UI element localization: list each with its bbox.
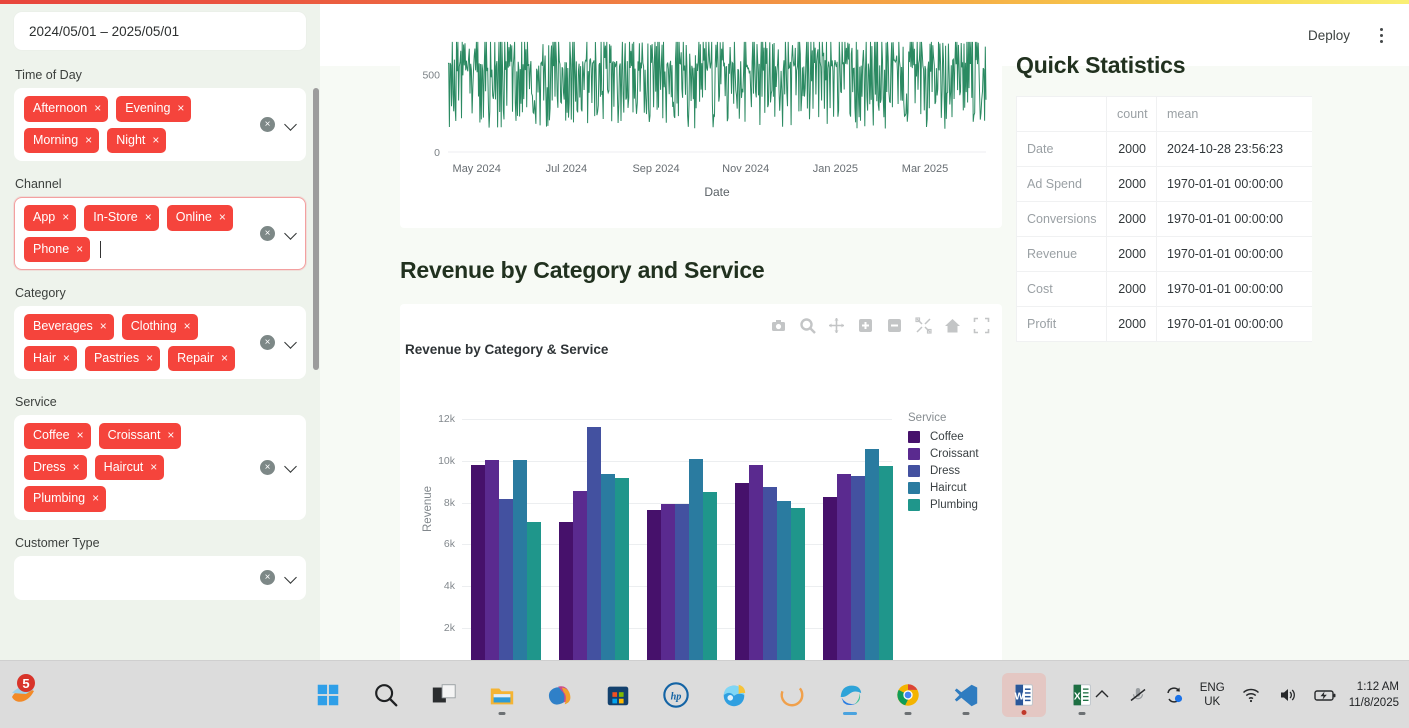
taskbar-running-indicator <box>498 712 505 715</box>
stats-cell-count: 2000 <box>1107 167 1157 202</box>
clock[interactable]: 1:12 AM 11/8/2025 <box>1349 679 1399 711</box>
legend-swatch <box>908 431 920 443</box>
chip-remove-icon[interactable]: × <box>94 102 101 114</box>
chip-label: Hair <box>33 352 56 365</box>
filter-sidebar: 2024/05/01 – 2025/05/01 Time of DayAfter… <box>0 4 320 660</box>
start-icon[interactable] <box>306 673 350 717</box>
timeseries-xtick: Jan 2025 <box>813 163 858 175</box>
stats-table-row: Date20002024-10-28 23:56:23202 <box>1017 132 1313 167</box>
stats-table-header-row: countmeanmi <box>1017 97 1313 132</box>
legend-item-coffee[interactable]: Coffee <box>908 431 1008 443</box>
bar-group-pastries <box>726 402 814 660</box>
timeseries-xtick: Nov 2024 <box>722 163 769 175</box>
legend-label: Dress <box>930 465 960 477</box>
stats-table-row: Conversions20001970-01-01 00:00:00197 <box>1017 202 1313 237</box>
chip-phone[interactable]: Phone× <box>24 237 90 263</box>
chip-label: Pastries <box>94 352 139 365</box>
chip-label: Repair <box>177 352 214 365</box>
chip-list-channel: App×In-Store×Online×Phone× <box>24 205 256 262</box>
bar-repair-coffee[interactable] <box>823 497 837 660</box>
filter-label-service: Service <box>15 395 306 409</box>
bar-beverages-coffee[interactable] <box>471 465 485 660</box>
bar-beverages-haircut[interactable] <box>513 460 527 660</box>
chip-remove-icon[interactable]: × <box>146 352 153 364</box>
bar-clothing-dress[interactable] <box>587 427 601 660</box>
thunderbird-icon[interactable]: 5 <box>6 669 52 715</box>
wifi-icon[interactable] <box>1241 685 1261 705</box>
clear-all-icon[interactable]: × <box>260 460 275 475</box>
bar-group-hair <box>638 402 726 660</box>
legend-item-plumbing[interactable]: Plumbing <box>908 499 1008 511</box>
bar-pastries-haircut[interactable] <box>777 501 791 660</box>
bar-clothing-croissant[interactable] <box>573 491 587 660</box>
zoom-in-icon[interactable] <box>857 317 874 334</box>
chip-night[interactable]: Night× <box>107 128 166 154</box>
taskbar-running-indicator <box>843 712 857 715</box>
timeseries-xaxis-title: Date <box>704 185 730 199</box>
microsoft-store-icon[interactable] <box>596 673 640 717</box>
date-range-value: 2024/05/01 – 2025/05/01 <box>29 24 179 39</box>
chip-label: Haircut <box>104 461 144 474</box>
bar-pastries-coffee[interactable] <box>735 483 749 660</box>
timeseries-ytick: 500 <box>422 70 440 82</box>
bar-beverages-dress[interactable] <box>499 499 513 660</box>
timeseries-xtick: Jul 2024 <box>546 163 588 175</box>
quick-statistics-panel: Quick Statistics countmeanmi Date2000202… <box>1016 52 1409 342</box>
stats-col-header-1: count <box>1107 97 1157 132</box>
chip-plumbing[interactable]: Plumbing× <box>24 486 106 512</box>
chevron-up-icon[interactable] <box>1092 685 1112 705</box>
chip-remove-icon[interactable]: × <box>221 352 228 364</box>
bar-beverages-plumbing[interactable] <box>527 522 541 660</box>
bar-repair-plumbing[interactable] <box>879 466 893 660</box>
section-title: Revenue by Category and Service <box>400 257 765 284</box>
timeseries-line <box>448 42 986 129</box>
chip-remove-icon[interactable]: × <box>152 134 159 146</box>
deploy-button[interactable]: Deploy <box>1302 24 1356 47</box>
system-tray: ENG UK <box>1092 661 1399 728</box>
chip-dress[interactable]: Dress× <box>24 455 87 481</box>
top-accent-bar <box>0 0 1409 4</box>
bar-pastries-dress[interactable] <box>763 487 777 660</box>
plotly-modebar <box>770 317 990 334</box>
bar-chart-title: Revenue by Category & Service <box>405 342 608 357</box>
word-icon[interactable]: W <box>1002 673 1046 717</box>
filter-label-category: Category <box>15 286 306 300</box>
bar-clothing-coffee[interactable] <box>559 522 573 660</box>
reset-axes-icon[interactable] <box>944 317 961 334</box>
chip-label: In-Store <box>93 211 137 224</box>
bar-beverages-croissant[interactable] <box>485 460 499 660</box>
filter-label-channel: Channel <box>15 177 306 191</box>
chip-remove-icon[interactable]: × <box>100 320 107 332</box>
chip-label: Afternoon <box>33 102 87 115</box>
stats-table-clip: countmeanmi Date20002024-10-28 23:56:232… <box>1016 96 1312 342</box>
bar-group-repair <box>814 402 902 660</box>
legend-swatch <box>908 448 920 460</box>
legend-label: Croissant <box>930 448 979 460</box>
clear-all-icon[interactable]: × <box>260 570 275 585</box>
vscode-icon[interactable] <box>944 673 988 717</box>
sidebar-scrollbar-thumb[interactable] <box>313 88 319 370</box>
chip-label: Plumbing <box>33 492 85 505</box>
photos-icon[interactable] <box>712 673 756 717</box>
windows-taskbar: 5 hpWX <box>0 660 1409 728</box>
language-bottom: UK <box>1200 695 1225 709</box>
sync-icon[interactable] <box>1164 685 1184 705</box>
multiselect-channel[interactable]: App×In-Store×Online×Phone×× <box>14 197 306 270</box>
stats-row-label: Conversions <box>1017 202 1107 237</box>
copilot-icon[interactable] <box>538 673 582 717</box>
multiselect-category[interactable]: Beverages×Clothing×Hair×Pastries×Repair×… <box>14 306 306 379</box>
stats-cell-count: 2000 <box>1107 202 1157 237</box>
multiselect-controls-time-of-day: × <box>256 117 297 132</box>
stats-table-row: Revenue20001970-01-01 00:00:00197 <box>1017 237 1313 272</box>
bar-chart-ytick: 8k <box>444 497 455 509</box>
chip-list-time-of-day: Afternoon×Evening×Morning×Night× <box>24 96 256 153</box>
clear-all-icon[interactable]: × <box>260 226 275 241</box>
timeseries-chart[interactable]: 0500May 2024Jul 2024Sep 2024Nov 2024Jan … <box>400 28 1002 228</box>
taskbar-running-indicator <box>962 712 969 715</box>
chip-app[interactable]: App× <box>24 205 76 231</box>
svg-text:X: X <box>1073 691 1080 702</box>
chip-label: Beverages <box>33 320 93 333</box>
bar-chart-ytick: 2k <box>444 622 455 634</box>
chip-remove-icon[interactable]: × <box>150 461 157 473</box>
stats-col-header-2: mean <box>1157 97 1313 132</box>
chip-label: Morning <box>33 134 78 147</box>
legend-label: Plumbing <box>930 499 978 511</box>
chip-label: Phone <box>33 243 69 256</box>
stats-cell-count: 2000 <box>1107 237 1157 272</box>
filter-label-time-of-day: Time of Day <box>15 68 306 82</box>
zoom-out-icon[interactable] <box>886 317 903 334</box>
chip-coffee[interactable]: Coffee× <box>24 423 91 449</box>
bar-hair-croissant[interactable] <box>661 504 675 660</box>
bar-chart-ytick: 6k <box>444 538 455 550</box>
legend-label: Coffee <box>930 431 964 443</box>
chip-evening[interactable]: Evening× <box>116 96 191 122</box>
bar-hair-haircut[interactable] <box>689 459 703 660</box>
hp-icon[interactable]: hp <box>654 673 698 717</box>
chip-remove-icon[interactable]: × <box>145 211 152 223</box>
chip-remove-icon[interactable]: × <box>63 352 70 364</box>
zoom-icon[interactable] <box>799 317 816 334</box>
bar-hair-dress[interactable] <box>675 504 689 660</box>
chevron-down-icon[interactable] <box>285 572 297 584</box>
chrome-icon[interactable] <box>886 673 930 717</box>
camera-icon[interactable] <box>770 317 787 334</box>
main-content: Deploy 0500May 2024Jul 2024Sep 2024Nov 2… <box>320 4 1409 660</box>
chevron-down-icon[interactable] <box>285 461 297 473</box>
kebab-menu-icon[interactable] <box>1376 24 1387 47</box>
legend-swatch <box>908 482 920 494</box>
stats-row-label: Ad Spend <box>1017 167 1107 202</box>
multiselect-controls-service: × <box>256 460 297 475</box>
quick-statistics-title: Quick Statistics <box>1016 52 1409 79</box>
firefox-icon[interactable] <box>770 673 814 717</box>
fullscreen-icon[interactable] <box>973 317 990 334</box>
bar-chart-ytick: 4k <box>444 580 455 592</box>
stats-row-label: Profit <box>1017 307 1107 342</box>
taskbar-running-indicator <box>1021 710 1026 715</box>
chevron-down-icon[interactable] <box>285 337 297 349</box>
bar-chart-legend: Service CoffeeCroissantDressHaircutPlumb… <box>908 412 1008 516</box>
volume-icon[interactable] <box>1277 685 1297 705</box>
text-cursor <box>100 241 101 258</box>
bar-clothing-plumbing[interactable] <box>615 478 629 660</box>
bar-repair-dress[interactable] <box>851 476 865 660</box>
chip-remove-icon[interactable]: × <box>62 211 69 223</box>
timeseries-xtick: Sep 2024 <box>632 163 679 175</box>
clock-date: 11/8/2025 <box>1349 695 1399 711</box>
bar-chart-plot-area[interactable]: 2k4k6k8k10k12k <box>462 402 892 660</box>
bar-chart-ytick: 10k <box>438 455 455 467</box>
search-icon[interactable] <box>364 673 408 717</box>
stats-row-label: Cost <box>1017 272 1107 307</box>
stats-cell-mean: 2024-10-28 23:56:23 <box>1157 132 1313 167</box>
chip-remove-icon[interactable]: × <box>73 461 80 473</box>
chip-label: Dress <box>33 461 66 474</box>
timeseries-chart-card: 0500May 2024Jul 2024Sep 2024Nov 2024Jan … <box>400 28 1002 228</box>
svg-text:5: 5 <box>22 676 29 691</box>
language-top: ENG <box>1200 681 1225 695</box>
bar-chart-ytick: 12k <box>438 413 455 425</box>
mic-muted-icon[interactable] <box>1128 685 1148 705</box>
file-explorer-icon[interactable] <box>480 673 524 717</box>
legend-title: Service <box>908 412 1008 424</box>
taskbar-items: hpWX <box>306 673 1104 717</box>
chip-remove-icon[interactable]: × <box>167 429 174 441</box>
chip-remove-icon[interactable]: × <box>85 134 92 146</box>
chip-clothing[interactable]: Clothing× <box>122 314 198 340</box>
stats-cell-count: 2000 <box>1107 132 1157 167</box>
multiselect-controls-customer-type: × <box>256 570 297 585</box>
legend-item-haircut[interactable]: Haircut <box>908 482 1008 494</box>
chip-label: App <box>33 211 55 224</box>
stats-cell-mean: 1970-01-01 00:00:00 <box>1157 272 1313 307</box>
legend-item-croissant[interactable]: Croissant <box>908 448 1008 460</box>
bar-clothing-haircut[interactable] <box>601 474 615 660</box>
multiselect-controls-channel: × <box>256 226 297 241</box>
chip-beverages[interactable]: Beverages× <box>24 314 114 340</box>
chip-label: Night <box>116 134 145 147</box>
edge-icon[interactable] <box>828 673 872 717</box>
chip-haircut[interactable]: Haircut× <box>95 455 165 481</box>
stats-col-header-0 <box>1017 97 1107 132</box>
legend-label: Haircut <box>930 482 966 494</box>
timeseries-svg: 0500May 2024Jul 2024Sep 2024Nov 2024Jan … <box>400 28 1002 228</box>
stats-table-row: Profit20001970-01-01 00:00:00197 <box>1017 307 1313 342</box>
bar-group-clothing <box>550 402 638 660</box>
stats-cell-mean: 1970-01-01 00:00:00 <box>1157 307 1313 342</box>
stats-cell-mean: 1970-01-01 00:00:00 <box>1157 237 1313 272</box>
bar-repair-haircut[interactable] <box>865 449 879 660</box>
taskbar-running-indicator <box>904 712 911 715</box>
bar-pastries-plumbing[interactable] <box>791 508 805 660</box>
chip-morning[interactable]: Morning× <box>24 128 99 154</box>
bar-groups <box>462 402 892 660</box>
clock-time: 1:12 AM <box>1349 679 1399 695</box>
chip-list-category: Beverages×Clothing×Hair×Pastries×Repair× <box>24 314 256 371</box>
clear-all-icon[interactable]: × <box>260 335 275 350</box>
chip-pastries[interactable]: Pastries× <box>85 346 160 372</box>
sidebar-content: 2024/05/01 – 2025/05/01 Time of DayAfter… <box>0 12 320 600</box>
legend-item-dress[interactable]: Dress <box>908 465 1008 477</box>
stats-table-body: Date20002024-10-28 23:56:23202Ad Spend20… <box>1017 132 1313 342</box>
autoscale-icon[interactable] <box>915 317 932 334</box>
chip-remove-icon[interactable]: × <box>92 492 99 504</box>
stats-table-row: Ad Spend20001970-01-01 00:00:00197 <box>1017 167 1313 202</box>
stats-cell-mean: 1970-01-01 00:00:00 <box>1157 167 1313 202</box>
chip-hair[interactable]: Hair× <box>24 346 77 372</box>
language-indicator[interactable]: ENG UK <box>1200 681 1225 710</box>
chevron-down-icon[interactable] <box>285 119 297 131</box>
chip-label: Evening <box>125 102 170 115</box>
stats-row-label: Date <box>1017 132 1107 167</box>
legend-items: CoffeeCroissantDressHaircutPlumbing <box>908 431 1008 511</box>
svg-text:W: W <box>1014 691 1024 702</box>
legend-swatch <box>908 465 920 477</box>
multiselect-controls-category: × <box>256 335 297 350</box>
stats-cell-mean: 1970-01-01 00:00:00 <box>1157 202 1313 237</box>
chip-online[interactable]: Online× <box>167 205 233 231</box>
legend-swatch <box>908 499 920 511</box>
timeseries-ytick: 0 <box>434 147 440 159</box>
stats-table-row: Cost20001970-01-01 00:00:00197 <box>1017 272 1313 307</box>
chip-label: Croissant <box>108 429 161 442</box>
stats-cell-count: 2000 <box>1107 307 1157 342</box>
filter-list: Time of DayAfternoon×Evening×Morning×Nig… <box>14 68 306 600</box>
taskbar-running-indicator <box>1078 712 1085 715</box>
multiselect-time-of-day[interactable]: Afternoon×Evening×Morning×Night×× <box>14 88 306 161</box>
chip-afternoon[interactable]: Afternoon× <box>24 96 108 122</box>
chip-in-store[interactable]: In-Store× <box>84 205 158 231</box>
chip-croissant[interactable]: Croissant× <box>99 423 182 449</box>
chip-repair[interactable]: Repair× <box>168 346 235 372</box>
clear-all-icon[interactable]: × <box>260 117 275 132</box>
multiselect-service[interactable]: Coffee×Croissant×Dress×Haircut×Plumbing×… <box>14 415 306 520</box>
bar-hair-plumbing[interactable] <box>703 492 717 660</box>
chip-remove-icon[interactable]: × <box>76 243 83 255</box>
chevron-down-icon[interactable] <box>285 228 297 240</box>
task-view-icon[interactable] <box>422 673 466 717</box>
date-range-input[interactable]: 2024/05/01 – 2025/05/01 <box>14 12 306 50</box>
bar-chart-yaxis-title: Revenue <box>422 486 434 532</box>
chip-remove-icon[interactable]: × <box>177 102 184 114</box>
bar-hair-coffee[interactable] <box>647 510 661 660</box>
bar-pastries-croissant[interactable] <box>749 465 763 660</box>
multiselect-customer-type[interactable]: × <box>14 556 306 600</box>
stats-cell-count: 2000 <box>1107 272 1157 307</box>
chip-remove-icon[interactable]: × <box>77 429 84 441</box>
stats-table: countmeanmi Date20002024-10-28 23:56:232… <box>1016 96 1312 342</box>
bar-group-beverages <box>462 402 550 660</box>
filter-label-customer-type: Customer Type <box>15 536 306 550</box>
timeseries-xtick: Mar 2025 <box>902 163 948 175</box>
svg-text:hp: hp <box>670 691 681 702</box>
revenue-bar-chart-card: Revenue by Category & Service Revenue 2k… <box>400 304 1002 660</box>
battery-charging-icon[interactable] <box>1313 685 1333 705</box>
stats-row-label: Revenue <box>1017 237 1107 272</box>
chip-label: Coffee <box>33 429 70 442</box>
chip-label: Online <box>176 211 212 224</box>
chip-remove-icon[interactable]: × <box>184 320 191 332</box>
pan-icon[interactable] <box>828 317 845 334</box>
dashboard-app: 2024/05/01 – 2025/05/01 Time of DayAfter… <box>0 0 1409 728</box>
chip-label: Clothing <box>131 320 177 333</box>
bar-repair-croissant[interactable] <box>837 474 851 660</box>
timeseries-xtick: May 2024 <box>453 163 501 175</box>
chip-list-service: Coffee×Croissant×Dress×Haircut×Plumbing× <box>24 423 256 512</box>
chip-remove-icon[interactable]: × <box>219 211 226 223</box>
